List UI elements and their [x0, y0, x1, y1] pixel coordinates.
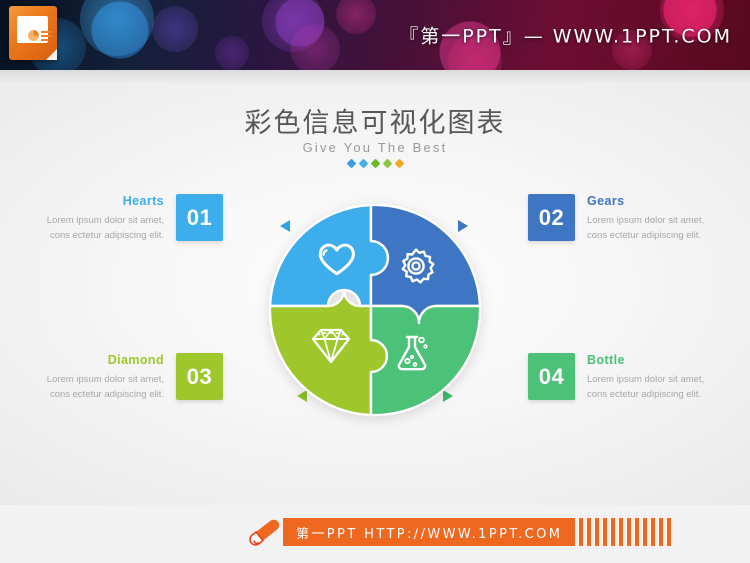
info-block-gears[interactable]: 02 Gears Lorem ipsum dolor sit amet, con… [528, 194, 707, 244]
bokeh-circle [215, 36, 249, 70]
slide-body: 彩色信息可视化图表 Give You The Best Hearts Lorem… [0, 70, 750, 505]
info-desc-hearts: Lorem ipsum dolor sit amet, cons ectetur… [44, 213, 164, 244]
slide-canvas: 『第一PPT』— WWW.1PPT.COM 彩色信息可视化图表 Give You… [0, 0, 750, 563]
bokeh-circle [152, 6, 198, 52]
pen-icon [248, 517, 282, 547]
banner-title: 『第一PPT』— WWW.1PPT.COM [399, 22, 732, 49]
logo-line [41, 39, 49, 41]
footer-stripe [627, 518, 631, 546]
decorative-dot-4 [382, 159, 392, 169]
puzzle-piece-bottle[interactable] [371, 306, 480, 415]
info-block-diamond[interactable]: Diamond Lorem ipsum dolor sit amet, cons… [44, 353, 223, 403]
bokeh-circle [80, 0, 154, 56]
info-number-bottle[interactable]: 04 [528, 353, 575, 400]
decorative-dots [0, 160, 750, 167]
footer-stripe [643, 518, 647, 546]
info-text-bottle: Bottle Lorem ipsum dolor sit amet, cons … [587, 353, 707, 403]
logo-pie-shape [28, 30, 39, 41]
footer-stripe [635, 518, 639, 546]
powerpoint-logo-icon [9, 6, 57, 60]
info-label-hearts: Hearts [44, 194, 164, 208]
footer-url-text: 第一PPT HTTP://WWW.1PPT.COM [283, 518, 575, 546]
info-label-gears: Gears [587, 194, 707, 208]
info-block-hearts[interactable]: Hearts Lorem ipsum dolor sit amet, cons … [44, 194, 223, 244]
info-block-bottle[interactable]: 04 Bottle Lorem ipsum dolor sit amet, co… [528, 353, 707, 403]
footer-stripe [587, 518, 591, 546]
footer-stripe [667, 518, 671, 546]
puzzle-circle-diagram [266, 201, 484, 419]
decorative-dot-2 [358, 159, 368, 169]
info-label-bottle: Bottle [587, 353, 707, 367]
footer-stripe [611, 518, 615, 546]
decorative-dot-3 [370, 159, 380, 169]
page-subtitle: Give You The Best [0, 140, 750, 155]
footer-stripe [595, 518, 599, 546]
info-number-hearts[interactable]: 01 [176, 194, 223, 241]
footer-url-bar: 第一PPT HTTP://WWW.1PPT.COM [283, 518, 675, 546]
footer-stripe [603, 518, 607, 546]
logo-document-shape [17, 16, 48, 43]
info-desc-gears: Lorem ipsum dolor sit amet, cons ectetur… [587, 213, 707, 244]
footer-stripe [619, 518, 623, 546]
info-desc-bottle: Lorem ipsum dolor sit amet, cons ectetur… [587, 372, 707, 403]
footer-stripes [579, 518, 675, 546]
info-text-diamond: Diamond Lorem ipsum dolor sit amet, cons… [44, 353, 164, 403]
info-number-gears[interactable]: 02 [528, 194, 575, 241]
bokeh-circle [290, 24, 340, 70]
info-number-diamond[interactable]: 03 [176, 353, 223, 400]
bokeh-circle [336, 0, 376, 34]
footer-stripe [659, 518, 663, 546]
decorative-dot-1 [346, 159, 356, 169]
info-label-diamond: Diamond [44, 353, 164, 367]
info-text-hearts: Hearts Lorem ipsum dolor sit amet, cons … [44, 194, 164, 244]
logo-line [41, 31, 52, 33]
top-banner: 『第一PPT』— WWW.1PPT.COM [0, 0, 750, 70]
decorative-dot-5 [394, 159, 404, 169]
info-desc-diamond: Lorem ipsum dolor sit amet, cons ectetur… [44, 372, 164, 403]
footer-bar: 第一PPT HTTP://WWW.1PPT.COM [0, 505, 750, 563]
info-text-gears: Gears Lorem ipsum dolor sit amet, cons e… [587, 194, 707, 244]
footer-stripe [651, 518, 655, 546]
page-title: 彩色信息可视化图表 [0, 101, 750, 140]
logo-line [41, 35, 52, 37]
footer-stripe [579, 518, 583, 546]
